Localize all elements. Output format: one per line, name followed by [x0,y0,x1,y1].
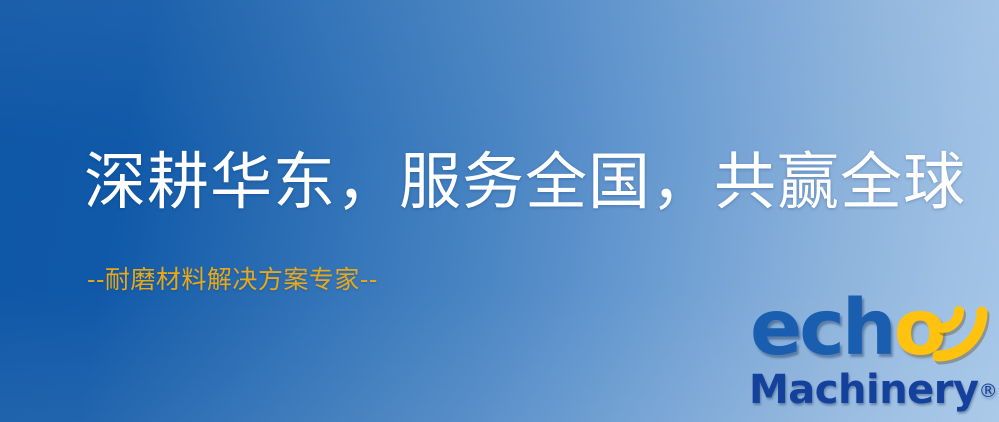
company-logo: echo Machinery® [745,292,999,422]
banner-headline: 深耕华东，服务全国，共赢全球 [84,148,966,216]
logo-subbrand-text: Machinery [749,367,979,413]
logo-subbrand: Machinery® [749,370,998,410]
signal-waves-icon [918,292,999,362]
registered-trademark-icon: ® [979,380,998,402]
logo-wordmark: echo [750,292,999,374]
logo-echo-text: echo [750,290,944,367]
promo-banner: 深耕华东，服务全国，共赢全球 --耐磨材料解决方案专家-- echo Machi… [0,0,999,422]
banner-subtitle: --耐磨材料解决方案专家-- [87,264,378,295]
logo-echo-prefix: ech [750,284,894,373]
